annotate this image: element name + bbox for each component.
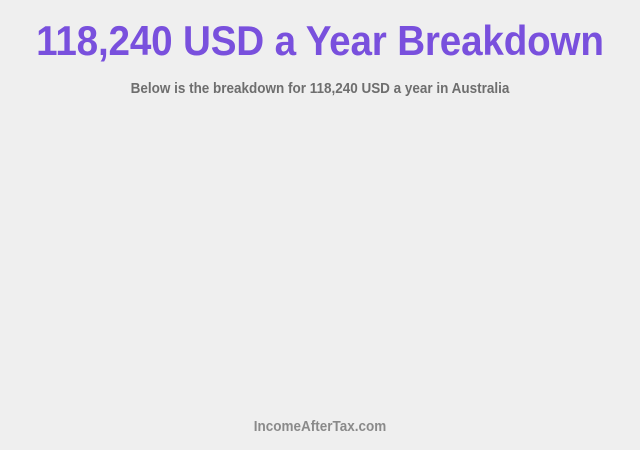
- page-title: 118,240 USD a Year Breakdown: [26, 19, 615, 63]
- site-credit: IncomeAfterTax.com: [22, 419, 617, 436]
- breakdown-page: 118,240 USD a Year Breakdown Below is th…: [0, 0, 640, 450]
- page-subtitle: Below is the breakdown for 118,240 USD a…: [22, 63, 617, 98]
- page-header: 118,240 USD a Year Breakdown Below is th…: [0, 0, 640, 98]
- page-footer: IncomeAfterTax.com: [0, 419, 640, 450]
- breakdown-content-area: [0, 98, 640, 419]
